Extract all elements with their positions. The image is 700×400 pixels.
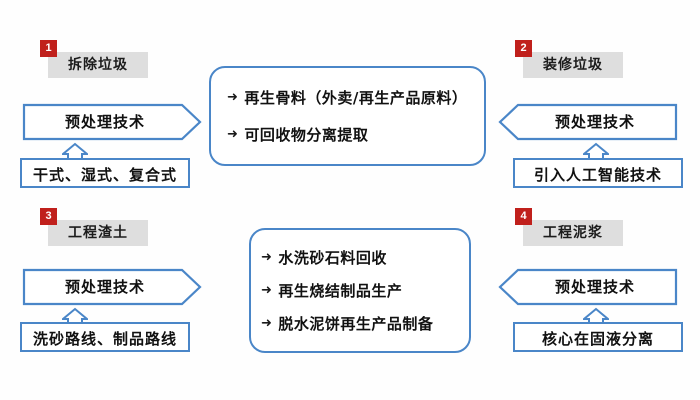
- list-item: ➜ 水洗砂石料回收: [261, 247, 469, 268]
- process-arrow-3[interactable]: 预处理技术: [22, 268, 202, 306]
- outcome-text: 脱水泥饼再生产品制备: [278, 313, 433, 334]
- category-label-3: 工程渣土: [48, 220, 148, 246]
- process-arrow-label-3: 预处理技术: [22, 268, 202, 306]
- method-box-4[interactable]: 核心在固液分离: [513, 322, 683, 352]
- method-box-2[interactable]: 引入人工智能技术: [513, 158, 683, 188]
- badge-number-2: 2: [515, 40, 532, 57]
- badge-number-4: 4: [515, 208, 532, 225]
- arrow-bullet-icon: ➜: [261, 283, 272, 298]
- outcome-text: 可回收物分离提取: [244, 124, 368, 145]
- list-item: ➜ 脱水泥饼再生产品制备: [261, 313, 469, 334]
- process-arrow-label-2: 预处理技术: [498, 103, 678, 141]
- outcomes-list-top: ➜ 再生骨料（外卖/再生产品原料） ➜ 可回收物分离提取: [211, 68, 484, 164]
- badge-number-3: 3: [40, 208, 57, 225]
- category-label-2: 装修垃圾: [523, 52, 623, 78]
- process-arrow-label-4: 预处理技术: [498, 268, 678, 306]
- method-box-3[interactable]: 洗砂路线、制品路线: [20, 322, 190, 352]
- list-item: ➜ 再生骨料（外卖/再生产品原料）: [227, 87, 484, 108]
- outcomes-box-bottom: ➜ 水洗砂石料回收 ➜ 再生烧结制品生产 ➜ 脱水泥饼再生产品制备: [249, 228, 471, 353]
- outcome-text: 再生骨料（外卖/再生产品原料）: [244, 87, 467, 108]
- outcome-text: 水洗砂石料回收: [278, 247, 387, 268]
- method-box-1[interactable]: 干式、湿式、复合式: [20, 158, 190, 188]
- process-arrow-2[interactable]: 预处理技术: [498, 103, 678, 141]
- category-label-4: 工程泥浆: [523, 220, 623, 246]
- list-item: ➜ 可回收物分离提取: [227, 124, 484, 145]
- arrow-bullet-icon: ➜: [261, 316, 272, 331]
- outcome-text: 再生烧结制品生产: [278, 280, 402, 301]
- category-label-1: 拆除垃圾: [48, 52, 148, 78]
- list-item: ➜ 再生烧结制品生产: [261, 280, 469, 301]
- process-arrow-4[interactable]: 预处理技术: [498, 268, 678, 306]
- process-arrow-1[interactable]: 预处理技术: [22, 103, 202, 141]
- diagram-canvas: 1 拆除垃圾 预处理技术 干式、湿式、复合式 2 装修垃圾 预处理技术 引入人工…: [0, 0, 700, 400]
- arrow-bullet-icon: ➜: [227, 127, 238, 142]
- arrow-bullet-icon: ➜: [227, 90, 238, 105]
- outcomes-box-top: ➜ 再生骨料（外卖/再生产品原料） ➜ 可回收物分离提取: [209, 66, 486, 166]
- arrow-bullet-icon: ➜: [261, 250, 272, 265]
- process-arrow-label-1: 预处理技术: [22, 103, 202, 141]
- badge-number-1: 1: [40, 40, 57, 57]
- outcomes-list-bottom: ➜ 水洗砂石料回收 ➜ 再生烧结制品生产 ➜ 脱水泥饼再生产品制备: [251, 230, 469, 351]
